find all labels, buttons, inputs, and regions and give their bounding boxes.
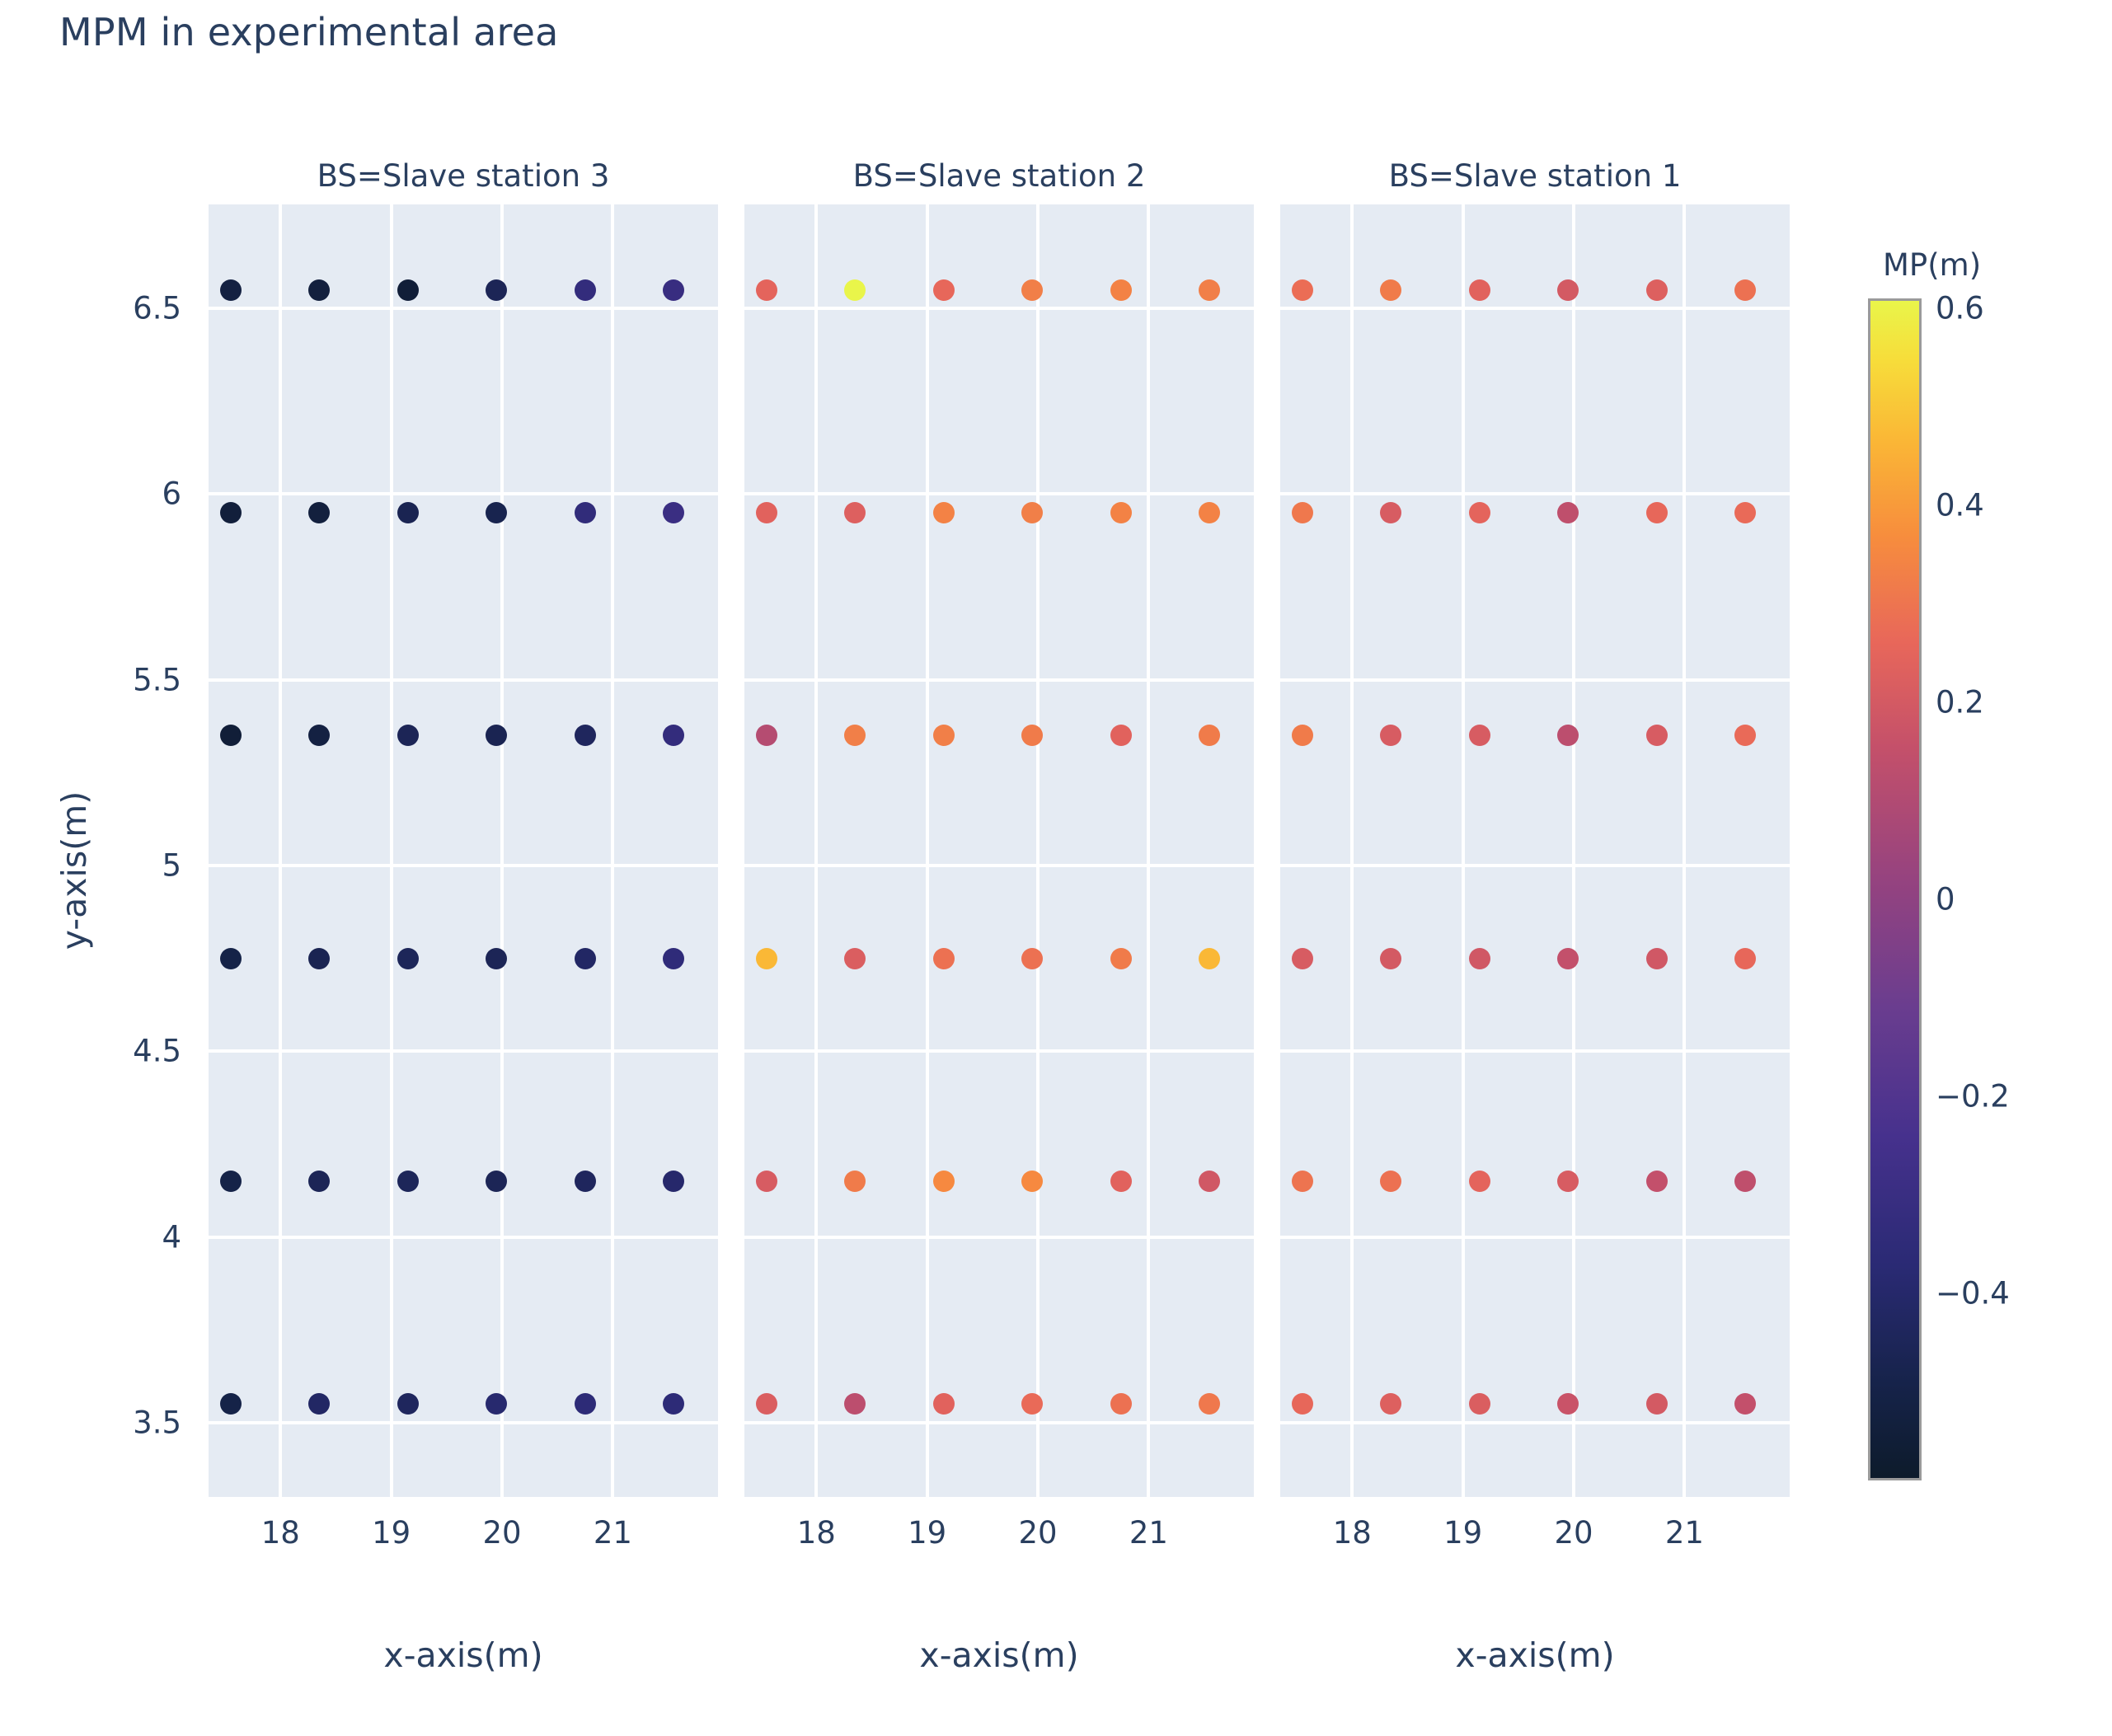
data-point[interactable]: [486, 725, 507, 746]
gridline-vertical: [390, 204, 393, 1497]
data-point[interactable]: [1110, 948, 1132, 969]
gridline-vertical: [1572, 204, 1575, 1497]
data-point[interactable]: [1557, 1393, 1579, 1415]
gridline-horizontal: [209, 1421, 718, 1424]
data-point[interactable]: [575, 725, 596, 746]
gridline-vertical: [1462, 204, 1465, 1497]
gridline-horizontal: [744, 492, 1254, 495]
data-point[interactable]: [933, 948, 955, 969]
data-point[interactable]: [575, 1393, 596, 1415]
plot-panel-1[interactable]: [209, 204, 718, 1497]
data-point[interactable]: [1380, 725, 1401, 746]
data-point[interactable]: [1021, 948, 1043, 969]
data-point[interactable]: [1734, 725, 1756, 746]
gridline-vertical: [1147, 204, 1150, 1497]
gridline-horizontal: [209, 678, 718, 682]
data-point[interactable]: [1199, 1171, 1220, 1192]
gridline-horizontal: [1280, 1421, 1790, 1424]
data-point[interactable]: [1646, 1171, 1668, 1192]
gridline-horizontal: [744, 1236, 1254, 1239]
gridline-vertical: [279, 204, 282, 1497]
y-tick-label: 4: [25, 1219, 181, 1255]
gridline-horizontal: [209, 492, 718, 495]
data-point[interactable]: [933, 725, 955, 746]
x-tick-label: 19: [1443, 1515, 1482, 1551]
data-point[interactable]: [308, 1393, 330, 1415]
gridline-horizontal: [1280, 864, 1790, 867]
data-point[interactable]: [575, 1171, 596, 1192]
y-tick-label: 6.5: [25, 291, 181, 326]
data-point[interactable]: [1469, 1393, 1490, 1415]
x-tick-label: 19: [908, 1515, 946, 1551]
data-point[interactable]: [1557, 279, 1579, 301]
colorbar-tick-label: 0.2: [1936, 684, 1984, 720]
data-point[interactable]: [1380, 1171, 1401, 1192]
x-tick-label: 18: [261, 1515, 300, 1551]
x-tick-label: 20: [1018, 1515, 1057, 1551]
data-point[interactable]: [756, 948, 777, 969]
plot-panel-3[interactable]: [1280, 204, 1790, 1497]
data-point[interactable]: [844, 502, 866, 523]
data-point[interactable]: [1469, 279, 1490, 301]
gridline-vertical: [926, 204, 929, 1497]
data-point[interactable]: [220, 279, 242, 301]
gridline-horizontal: [1280, 1049, 1790, 1053]
x-axis-title-3: x-axis(m): [1455, 1635, 1614, 1675]
data-point[interactable]: [756, 1393, 777, 1415]
colorbar-tick-label: 0: [1936, 881, 1955, 917]
data-point[interactable]: [756, 1171, 777, 1192]
data-point[interactable]: [1292, 502, 1313, 523]
data-point[interactable]: [397, 279, 419, 301]
y-tick-label: 4.5: [25, 1034, 181, 1069]
data-point[interactable]: [1734, 1171, 1756, 1192]
x-axis-title-2: x-axis(m): [919, 1635, 1078, 1675]
colorbar-tick-label: 0.4: [1936, 487, 1984, 523]
data-point[interactable]: [663, 725, 684, 746]
data-point[interactable]: [397, 1171, 419, 1192]
gridline-vertical: [500, 204, 504, 1497]
data-point[interactable]: [1646, 279, 1668, 301]
data-point[interactable]: [1557, 1171, 1579, 1192]
colorbar-tick-label: −0.4: [1936, 1275, 2010, 1311]
data-point[interactable]: [1110, 279, 1132, 301]
x-tick-label: 20: [1554, 1515, 1593, 1551]
data-point[interactable]: [844, 279, 866, 301]
gridline-vertical: [611, 204, 614, 1497]
x-tick-label: 19: [372, 1515, 411, 1551]
data-point[interactable]: [575, 279, 596, 301]
gridline-horizontal: [744, 864, 1254, 867]
data-point[interactable]: [397, 725, 419, 746]
data-point[interactable]: [1021, 279, 1043, 301]
data-point[interactable]: [220, 725, 242, 746]
gridline-vertical: [814, 204, 818, 1497]
data-point[interactable]: [1292, 948, 1313, 969]
data-point[interactable]: [663, 948, 684, 969]
data-point[interactable]: [486, 1393, 507, 1415]
data-point[interactable]: [575, 948, 596, 969]
data-point[interactable]: [1380, 948, 1401, 969]
data-point[interactable]: [486, 502, 507, 523]
data-point[interactable]: [1110, 725, 1132, 746]
y-tick-label: 5: [25, 848, 181, 884]
data-point[interactable]: [1021, 1171, 1043, 1192]
data-point[interactable]: [1646, 725, 1668, 746]
x-tick-label: 21: [1665, 1515, 1704, 1551]
data-point[interactable]: [1110, 1393, 1132, 1415]
data-point[interactable]: [1380, 1393, 1401, 1415]
facet-title-1: BS=Slave station 3: [317, 158, 610, 194]
data-point[interactable]: [663, 1171, 684, 1192]
gridline-horizontal: [744, 1049, 1254, 1053]
data-point[interactable]: [1199, 948, 1220, 969]
y-tick-label: 3.5: [25, 1405, 181, 1440]
gridline-horizontal: [1280, 307, 1790, 310]
data-point[interactable]: [1110, 502, 1132, 523]
data-point[interactable]: [1292, 1393, 1313, 1415]
data-point[interactable]: [1469, 502, 1490, 523]
gridline-horizontal: [744, 307, 1254, 310]
data-point[interactable]: [308, 502, 330, 523]
data-point[interactable]: [844, 1171, 866, 1192]
data-point[interactable]: [1469, 948, 1490, 969]
data-point[interactable]: [1380, 502, 1401, 523]
x-tick-label: 21: [594, 1515, 632, 1551]
data-point[interactable]: [1199, 1393, 1220, 1415]
x-tick-label: 21: [1129, 1515, 1168, 1551]
data-point[interactable]: [1469, 1171, 1490, 1192]
facet-title-2: BS=Slave station 2: [853, 158, 1146, 194]
page-title: MPM in experimental area: [59, 10, 558, 54]
gridline-horizontal: [209, 864, 718, 867]
data-point[interactable]: [1646, 1393, 1668, 1415]
gridline-horizontal: [209, 1236, 718, 1239]
data-point[interactable]: [486, 279, 507, 301]
data-point[interactable]: [1110, 1171, 1132, 1192]
y-tick-label: 5.5: [25, 662, 181, 697]
gridline-horizontal: [209, 1049, 718, 1053]
colorbar-tick-label: −0.2: [1936, 1078, 2010, 1114]
data-point[interactable]: [308, 725, 330, 746]
data-point[interactable]: [933, 279, 955, 301]
data-point[interactable]: [220, 1171, 242, 1192]
data-point[interactable]: [1380, 279, 1401, 301]
data-point[interactable]: [1199, 725, 1220, 746]
gridline-horizontal: [744, 1421, 1254, 1424]
data-point[interactable]: [933, 1393, 955, 1415]
data-point[interactable]: [663, 1393, 684, 1415]
data-point[interactable]: [1734, 502, 1756, 523]
gridline-horizontal: [744, 678, 1254, 682]
data-point[interactable]: [397, 1393, 419, 1415]
data-point[interactable]: [1292, 1171, 1313, 1192]
colorbar-tick-label: 0.6: [1936, 290, 1984, 326]
data-point[interactable]: [1646, 948, 1668, 969]
data-point[interactable]: [397, 502, 419, 523]
data-point[interactable]: [1557, 725, 1579, 746]
colorbar-title: MP(m): [1883, 247, 1981, 283]
plot-panel-2[interactable]: [744, 204, 1254, 1497]
data-point[interactable]: [1199, 502, 1220, 523]
gridline-horizontal: [209, 307, 718, 310]
data-point[interactable]: [308, 948, 330, 969]
figure-root: MPM in experimental area y-axis(m) BS=Sl…: [0, 0, 2112, 1736]
x-tick-label: 18: [1333, 1515, 1372, 1551]
colorbar-gradient[interactable]: [1868, 298, 1922, 1480]
data-point[interactable]: [1021, 1393, 1043, 1415]
gridline-horizontal: [1280, 678, 1790, 682]
x-axis-title-1: x-axis(m): [383, 1635, 542, 1675]
data-point[interactable]: [844, 1393, 866, 1415]
data-point[interactable]: [220, 948, 242, 969]
gridline-horizontal: [1280, 492, 1790, 495]
data-point[interactable]: [308, 1171, 330, 1192]
data-point[interactable]: [220, 502, 242, 523]
data-point[interactable]: [933, 502, 955, 523]
data-point[interactable]: [1734, 948, 1756, 969]
data-point[interactable]: [933, 1171, 955, 1192]
data-point[interactable]: [663, 502, 684, 523]
x-tick-label: 20: [482, 1515, 521, 1551]
data-point[interactable]: [486, 1171, 507, 1192]
data-point[interactable]: [1021, 502, 1043, 523]
data-point[interactable]: [220, 1393, 242, 1415]
data-point[interactable]: [663, 279, 684, 301]
gridline-vertical: [1036, 204, 1040, 1497]
data-point[interactable]: [397, 948, 419, 969]
data-point[interactable]: [756, 725, 777, 746]
data-point[interactable]: [756, 502, 777, 523]
data-point[interactable]: [486, 948, 507, 969]
data-point[interactable]: [756, 279, 777, 301]
data-point[interactable]: [844, 725, 866, 746]
gridline-horizontal: [1280, 1236, 1790, 1239]
data-point[interactable]: [1292, 725, 1313, 746]
data-point[interactable]: [308, 279, 330, 301]
x-tick-label: 18: [797, 1515, 836, 1551]
data-point[interactable]: [1469, 725, 1490, 746]
data-point[interactable]: [844, 948, 866, 969]
data-point[interactable]: [1646, 502, 1668, 523]
data-point[interactable]: [1021, 725, 1043, 746]
data-point[interactable]: [1557, 948, 1579, 969]
data-point[interactable]: [1292, 279, 1313, 301]
y-tick-label: 6: [25, 476, 181, 512]
facet-title-3: BS=Slave station 1: [1389, 158, 1682, 194]
data-point[interactable]: [575, 502, 596, 523]
data-point[interactable]: [1557, 502, 1579, 523]
gridline-vertical: [1683, 204, 1686, 1497]
data-point[interactable]: [1199, 279, 1220, 301]
data-point[interactable]: [1734, 279, 1756, 301]
gridline-vertical: [1350, 204, 1354, 1497]
data-point[interactable]: [1734, 1393, 1756, 1415]
